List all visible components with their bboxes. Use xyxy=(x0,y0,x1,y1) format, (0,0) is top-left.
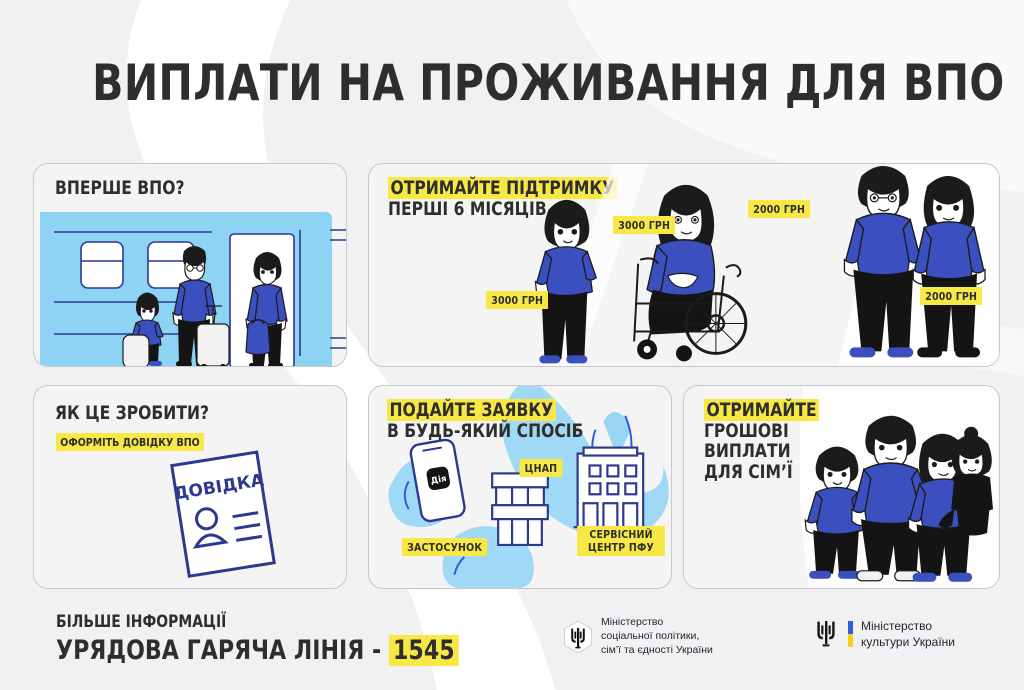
footer-hotline-number: 1545 xyxy=(389,635,459,666)
footer-hotline-label: УРЯДОВА ГАРЯЧА ЛІНІЯ - xyxy=(56,635,381,666)
card-apply-heading: ПОДАЙТЕ ЗАЯВКУ В БУДЬ-ЯКИЙ СПОСІБ xyxy=(387,400,583,441)
ukraine-trident-emblem-icon xyxy=(812,618,840,650)
card-first-time-idp: ВПЕРШЕ ВПО? xyxy=(33,163,347,367)
amount-badge-child: 3000 ГРН xyxy=(486,291,548,309)
method-badge-pfu: СЕРВІСНИЙ ЦЕНТР ПФУ xyxy=(577,526,665,556)
card-idp-heading: ВПЕРШЕ ВПО? xyxy=(55,178,184,199)
card-receive-heading-highlight: ОТРИМАЙТЕ xyxy=(704,399,819,421)
card-apply-heading-plain: В БУДЬ-ЯКИЙ СПОСІБ xyxy=(387,420,583,442)
logo-social-line2: соціальної політики, xyxy=(601,630,713,644)
family-at-train-illustration xyxy=(34,206,347,367)
card-apply-methods: ПОДАЙТЕ ЗАЯВКУ В БУДЬ-ЯКИЙ СПОСІБ Дія xyxy=(368,385,672,589)
amount-badge-man: 2000 ГРН xyxy=(748,200,810,218)
card-receive-heading-line3: ВИПЛАТИ xyxy=(704,440,791,462)
footer-more-info-label: БІЛЬШЕ ІНФОРМАЦІЇ xyxy=(56,612,459,632)
card-how-to-do-it: ЯК ЦЕ ЗРОБИТИ? ОФОРМІТЬ ДОВІДКУ ВПО ДОВІ… xyxy=(33,385,347,589)
card-support-amounts: ОТРИМАЙТЕ ПІДТРИМКУ ПЕРШІ 6 МІСЯЦІВ xyxy=(368,163,1000,367)
certificate-document-icon: ДОВІДКА xyxy=(144,446,304,581)
logo-culture-line2: культури України xyxy=(861,634,955,650)
footer-contact-block: БІЛЬШЕ ІНФОРМАЦІЇ УРЯДОВА ГАРЯЧА ЛІНІЯ -… xyxy=(56,612,547,666)
card-howto-heading: ЯК ЦЕ ЗРОБИТИ? xyxy=(55,403,209,424)
card-receive-payments: ОТРИМАЙТЕ ГРОШОВІ ВИПЛАТИ ДЛЯ СІМ’Ї xyxy=(683,385,1000,589)
ukraine-flag-bar-icon xyxy=(848,621,853,647)
logo-culture-text: Міністерство культури України xyxy=(861,618,955,650)
logo-ministry-of-social-policy: Міністерство соціальної політики, сім’ї … xyxy=(563,616,713,658)
amount-badge-woman: 2000 ГРН xyxy=(920,287,982,305)
logo-social-text: Міністерство соціальної політики, сім’ї … xyxy=(601,616,713,658)
logo-social-line3: сім’ї та єдності України xyxy=(601,644,713,658)
logo-culture-line1: Міністерство xyxy=(861,618,955,634)
page-title: ВИПЛАТИ НА ПРОЖИВАННЯ ДЛЯ ВПО xyxy=(92,54,932,112)
card-receive-heading-line2: ГРОШОВІ xyxy=(704,420,789,442)
method-badge-cnap: ЦНАП xyxy=(519,459,562,477)
method-badge-app: ЗАСТОСУНОК xyxy=(402,538,487,556)
footer-hotline: УРЯДОВА ГАРЯЧА ЛІНІЯ - 1545 xyxy=(56,635,459,666)
logo-ministry-of-culture: Міністерство культури України xyxy=(812,618,955,650)
card-receive-heading: ОТРИМАЙТЕ ГРОШОВІ ВИПЛАТИ ДЛЯ СІМ’Ї xyxy=(704,400,819,482)
ukraine-trident-emblem-icon xyxy=(563,620,593,654)
card-apply-heading-highlight: ПОДАЙТЕ ЗАЯВКУ xyxy=(387,399,556,421)
card-receive-heading-line4: ДЛЯ СІМ’Ї xyxy=(704,461,793,483)
logo-social-line1: Міністерство xyxy=(601,616,713,630)
support-people-illustration xyxy=(369,164,999,367)
amount-badge-disability: 3000 ГРН xyxy=(613,216,675,234)
